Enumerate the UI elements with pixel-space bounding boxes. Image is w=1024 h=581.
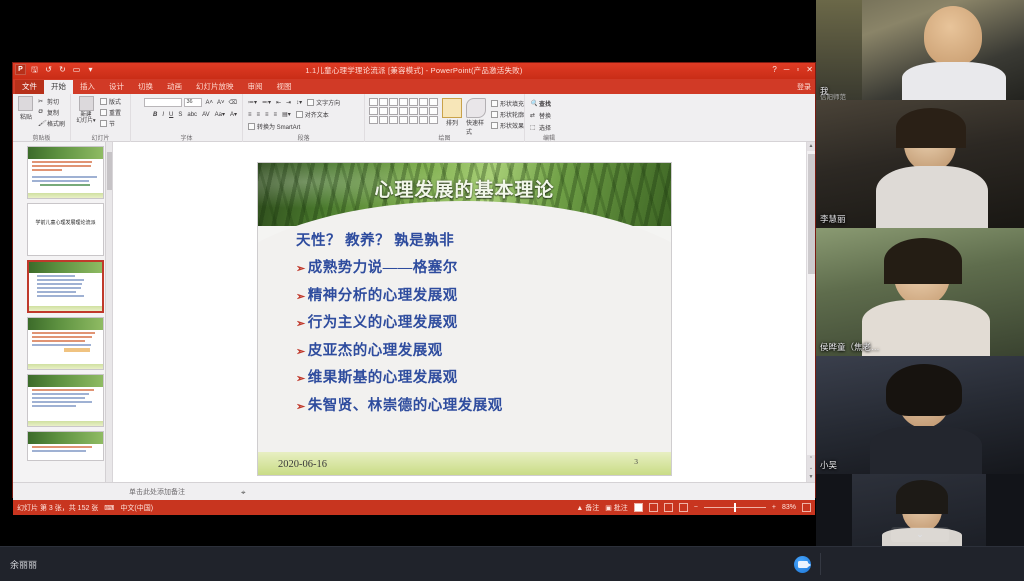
align-left-button[interactable]: ≡	[247, 112, 253, 118]
slide-sorter-icon[interactable]	[649, 503, 658, 512]
character-spacing-button[interactable]: AV	[201, 112, 211, 118]
slide-thumbnail-5[interactable]: 5 ✸	[27, 374, 104, 427]
strikethrough-button[interactable]: abc	[186, 112, 198, 118]
shape-oval-icon	[419, 98, 428, 106]
thumbnail-header-band	[28, 432, 103, 444]
layout-icon	[100, 98, 107, 105]
shadow-button[interactable]: S	[177, 112, 183, 118]
group-label-drawing: 绘图	[365, 133, 524, 142]
ribbon-group-font: 36 A˄ A˅ ⌫ B I U S abc AV Aa▾ A▾	[131, 94, 243, 142]
shape-star-icon	[369, 116, 378, 124]
shape-arc-icon	[399, 116, 408, 124]
close-icon[interactable]: ✕	[806, 64, 813, 75]
slide-bullet-5: ➢ 维果斯基的心理发展观	[296, 366, 661, 387]
paste-button[interactable]: 粘贴	[17, 96, 35, 121]
shape-arrow-icon	[399, 98, 408, 106]
bold-button[interactable]: B	[152, 112, 158, 118]
shape-effects-button[interactable]: 形状效果	[490, 121, 525, 130]
decrease-indent-button[interactable]: ⇤	[275, 99, 282, 106]
tab-slideshow[interactable]: 幻灯片放映	[189, 80, 241, 94]
brush-icon: 🖌	[38, 120, 45, 127]
collapse-video-strip-button[interactable]: ⌄	[891, 527, 949, 542]
font-name-input[interactable]	[144, 98, 182, 107]
thumbnail-line	[64, 348, 90, 352]
find-button[interactable]: 🔍查找	[529, 99, 569, 108]
participant-name: 小吴	[820, 459, 837, 471]
quick-styles-button[interactable]: 快速样式	[466, 98, 486, 136]
scroll-up-icon[interactable]: ▲	[807, 142, 815, 151]
format-painter-button[interactable]: 🖌格式刷	[37, 119, 66, 128]
shape-freeform-icon	[399, 107, 408, 115]
bullet-arrow-icon: ➢	[296, 317, 306, 330]
tab-design[interactable]: 设计	[102, 80, 131, 94]
participant-tile-5[interactable]: ⌄	[816, 474, 1024, 546]
shape-more-icon	[429, 98, 438, 106]
increase-indent-button[interactable]: ⇥	[285, 99, 292, 106]
participant-tile-1[interactable]: 我 信阳师范	[816, 0, 1024, 100]
thumbnail-line	[32, 340, 85, 342]
layout-button[interactable]: 版式	[99, 97, 122, 106]
arrange-icon	[442, 98, 462, 118]
ribbon-group-paragraph: ≔▾ ≕▾ ⇤ ⇥ ↕▾ 文字方向 ≡ ≡ ≡ ≡ ▤▾ 对齐文本	[243, 94, 365, 142]
clear-formatting-button[interactable]: ⌫	[228, 99, 238, 106]
slide-bullet-1: ➢ 成熟势力说——格塞尔	[296, 256, 661, 277]
thumbnail-header-band	[29, 262, 102, 273]
participant-tile-2[interactable]: 李慧丽	[816, 100, 1024, 228]
comments-toggle-button[interactable]: ▣ 批注	[605, 503, 628, 513]
scissors-icon: ✂	[38, 98, 45, 105]
shape-fill-icon	[491, 100, 498, 107]
video-chat-button[interactable]	[794, 556, 811, 573]
slide-bullet-6: ➢ 朱智贤、林崇德的心理发展观	[296, 394, 661, 415]
shape-box-icon	[369, 107, 378, 115]
convert-smartart-button[interactable]: 转换为 SmartArt	[247, 122, 301, 131]
copy-icon: ⧉	[38, 109, 45, 116]
bullet-arrow-icon: ➢	[296, 262, 306, 275]
notes-toggle-button[interactable]: ▲ 备注	[576, 503, 599, 513]
restore-icon[interactable]: ▫	[796, 64, 799, 75]
slide-content-body[interactable]: 天性？ 教养？ 孰是孰非 ➢ 成熟势力说——格塞尔 ➢ 精神分析的心理发展观 ➢	[296, 229, 661, 421]
underline-button[interactable]: U	[168, 112, 174, 118]
signin-label[interactable]: 登录	[797, 82, 811, 92]
thumbnail-line	[37, 295, 84, 297]
shape-scroll-icon	[429, 107, 438, 115]
shape-curve-icon	[389, 107, 398, 115]
thumbnail-line	[32, 332, 95, 334]
columns-button[interactable]: ▤▾	[281, 111, 292, 118]
select-icon: ⬚	[530, 124, 537, 131]
align-text-icon	[296, 111, 303, 118]
slide-pane-scrollbar[interactable]: ▲ ⌃ ⌄ ▼	[806, 142, 815, 482]
scroll-down-icon[interactable]: ▼	[807, 473, 815, 482]
thumbnail-header-band	[28, 375, 103, 387]
slide-title[interactable]: 心理发展的基本理论	[258, 175, 671, 202]
powerpoint-title-bar[interactable]: P 🖫 ↺ ↻ ▭ ▾ 1.1儿童心理学理论流派 [兼容模式] - PowerP…	[13, 63, 815, 79]
zoom-in-button[interactable]: +	[772, 504, 776, 511]
powerpoint-title: 1.1儿童心理学理论流派 [兼容模式] - PowerPoint(产品激活失败)	[13, 65, 815, 76]
shape-smiley-icon	[409, 107, 418, 115]
text-direction-icon	[307, 99, 314, 106]
ribbon-right-controls: 登录	[797, 82, 811, 92]
zoom-slider[interactable]	[704, 507, 766, 508]
shape-callout-icon	[389, 116, 398, 124]
bullet-arrow-icon: ➢	[296, 290, 306, 303]
tab-transitions[interactable]: 切换	[131, 80, 160, 94]
shape-rounded-icon	[379, 98, 388, 106]
shape-chevron-icon	[419, 107, 428, 115]
zoom-level[interactable]: 83%	[782, 504, 796, 511]
self-name-label: 余丽丽	[10, 558, 37, 571]
thumbnail-line	[32, 397, 85, 399]
previous-slide-icon[interactable]: ⌃	[807, 455, 815, 464]
thumbnail-scrollbar-knob[interactable]	[107, 152, 112, 190]
shape-triangle-icon	[379, 107, 388, 115]
zoom-slider-handle[interactable]	[734, 503, 736, 512]
copy-button[interactable]: ⧉复制	[37, 108, 66, 117]
ribbon-group-editing: 🔍查找 ⇄替换 ⬚选择 编辑	[525, 94, 573, 142]
thumbnail-line	[32, 161, 92, 163]
help-icon[interactable]: ?	[772, 64, 776, 75]
tab-home[interactable]: 开始	[44, 80, 73, 94]
new-slide-button[interactable]: 新建幻灯片▾	[75, 96, 97, 124]
shape-brace-left-icon	[409, 116, 418, 124]
tab-review[interactable]: 审阅	[241, 80, 270, 94]
line-spacing-button[interactable]: ↕▾	[295, 99, 303, 106]
reset-button[interactable]: 重置	[99, 108, 122, 117]
select-button[interactable]: ⬚选择	[529, 123, 569, 132]
font-size-input[interactable]: 36	[184, 98, 202, 107]
align-center-button[interactable]: ≡	[256, 112, 262, 118]
thumbnail-title: 学前儿童心理发展理论流派	[28, 204, 103, 227]
window-controls: ? ─ ▫ ✕	[772, 64, 813, 75]
group-label-paragraph: 段落	[243, 133, 364, 142]
powerpoint-status-bar: 幻灯片 第 3 张，共 152 张 ⌨ 中文(中国) ▲ 备注 ▣ 批注 − +…	[13, 500, 815, 515]
thumbnail-scrollbar[interactable]	[105, 142, 112, 482]
participant-subtitle: 信阳师范	[820, 91, 846, 100]
shape-fill-button[interactable]: 形状填充	[490, 99, 525, 108]
group-label-editing: 编辑	[525, 133, 573, 142]
find-icon: 🔍	[530, 100, 537, 107]
thumbnail-footer-band	[28, 421, 103, 426]
spellcheck-icon[interactable]: ⌨	[104, 504, 114, 512]
thumbnail-line	[32, 169, 62, 171]
slide-thumbnail-1[interactable]: 1 ✸	[27, 146, 104, 199]
tab-view[interactable]: 视图	[270, 80, 299, 94]
thumbnail-line	[32, 393, 89, 395]
participant-tile-4[interactable]: 小吴	[816, 356, 1024, 474]
slide-pane-scrollbar-knob[interactable]	[808, 154, 815, 274]
shape-outline-icon	[491, 111, 498, 118]
arrange-button[interactable]: 排列	[442, 98, 462, 127]
slide-edit-pane[interactable]: 心理发展的基本理论 天性？ 教养？ 孰是孰非 ➢ 成熟势力说——格塞尔 ➢ 精神…	[113, 142, 815, 482]
slide-bullet-text: 维果斯基的心理发展观	[308, 366, 458, 387]
reading-view-icon[interactable]	[664, 503, 673, 512]
language-label[interactable]: 中文(中国)	[120, 503, 153, 513]
change-case-button[interactable]: Aa▾	[214, 111, 226, 118]
paste-label: 粘贴	[20, 112, 32, 121]
mouse-cursor-icon: ⌖	[241, 488, 246, 498]
zoom-out-button[interactable]: −	[694, 504, 698, 511]
minimize-icon[interactable]: ─	[784, 64, 790, 75]
thumbnail-line	[37, 283, 82, 285]
shape-effects-icon	[491, 122, 498, 129]
numbering-button[interactable]: ≕▾	[261, 99, 272, 106]
smartart-icon	[248, 123, 255, 130]
powerpoint-workspace: 1 ✸ 2 学前儿童心理发展理论流派	[13, 142, 815, 482]
shape-gallery[interactable]	[369, 98, 438, 124]
slide-thumbnail-4[interactable]: 4 ✸	[27, 317, 104, 370]
thumbnail-line	[32, 450, 86, 452]
thumbnail-line	[32, 336, 92, 338]
thumbnail-line	[32, 405, 76, 407]
meeting-screen: P 🖫 ↺ ↻ ▭ ▾ 1.1儿童心理学理论流派 [兼容模式] - PowerP…	[0, 0, 1024, 581]
notes-placeholder: 单击此处添加备注	[129, 487, 185, 497]
thumbnail-footer-band	[28, 193, 103, 198]
slide-thumbnail-panel[interactable]: 1 ✸ 2 学前儿童心理发展理论流派	[13, 142, 113, 482]
shape-brace-right-icon	[419, 116, 428, 124]
bullet-arrow-icon: ➢	[296, 372, 306, 385]
ribbon-tab-strip: 文件 开始 插入 设计 切换 动画 幻灯片放映 审阅 视图 登录	[13, 79, 815, 94]
slide-bullet-text: 成熟势力说——格塞尔	[308, 256, 458, 277]
participant-tile-3[interactable]: 侯晔童（焦老…	[816, 228, 1024, 356]
thumbnail-line	[32, 165, 91, 167]
thumbnail-line	[37, 279, 84, 281]
slide-bullet-text: 朱智贤、林崇德的心理发展观	[308, 394, 503, 415]
thumbnail-line	[40, 184, 90, 186]
fit-to-window-icon[interactable]	[802, 503, 811, 512]
shared-screen-area: P 🖫 ↺ ↻ ▭ ▾ 1.1儿童心理学理论流派 [兼容模式] - PowerP…	[0, 0, 816, 546]
thumbnail-line	[32, 180, 89, 182]
participant-name: 侯晔童（焦老…	[820, 341, 880, 353]
section-button[interactable]: 节	[99, 119, 122, 128]
thumbnail-line	[32, 344, 91, 346]
ribbon-group-slides: 新建幻灯片▾ 版式 重置 节 幻灯片	[71, 94, 131, 142]
slideshow-icon[interactable]	[679, 503, 688, 512]
meeting-bottom-bar: 余丽丽	[0, 546, 1024, 581]
ribbon-group-drawing: 排列 快速样式 形状填充 形状轮廓 形状效果 绘图	[365, 94, 525, 142]
quick-styles-icon	[466, 98, 486, 118]
normal-view-icon[interactable]	[634, 503, 643, 512]
slide-bullet-text: 精神分析的心理发展观	[308, 284, 458, 305]
bullets-button[interactable]: ≔▾	[247, 99, 258, 106]
ribbon-group-clipboard: 粘贴 ✂剪切 ⧉复制 🖌格式刷 剪贴板	[13, 94, 71, 142]
shape-line-icon	[389, 98, 398, 106]
slide-lead-text: 天性？ 教养？ 孰是孰非	[296, 229, 661, 250]
current-slide[interactable]: 心理发展的基本理论 天性？ 教养？ 孰是孰非 ➢ 成熟势力说——格塞尔 ➢ 精神…	[257, 162, 672, 476]
group-label-clipboard: 剪贴板	[13, 133, 70, 142]
new-slide-icon	[79, 96, 94, 111]
text-direction-button[interactable]: 文字方向	[306, 98, 341, 107]
font-color-button[interactable]: A▾	[229, 111, 238, 118]
participant-name: 李慧丽	[820, 213, 846, 225]
powerpoint-window: P 🖫 ↺ ↻ ▭ ▾ 1.1儿童心理学理论流派 [兼容模式] - PowerP…	[12, 62, 816, 498]
align-text-button[interactable]: 对齐文本	[295, 110, 330, 119]
thumbnail-line	[32, 401, 92, 403]
align-right-button[interactable]: ≡	[264, 112, 270, 118]
thumbnail-line	[37, 287, 81, 289]
slide-thumbnail-6[interactable]: 6 ✸	[27, 431, 104, 461]
slide-bullet-2: ➢ 精神分析的心理发展观	[296, 284, 661, 305]
status-right: ▲ 备注 ▣ 批注 − + 83%	[576, 500, 811, 515]
slide-thumbnail-2[interactable]: 2 学前儿童心理发展理论流派	[27, 203, 104, 256]
paste-icon	[18, 96, 33, 111]
thumbnail-line	[32, 446, 92, 448]
slide-bullet-text: 行为主义的心理发展观	[308, 311, 458, 332]
italic-button[interactable]: I	[161, 112, 165, 118]
bottom-bar-divider	[820, 553, 821, 575]
slide-thumbnail-3[interactable]: 3 ✸	[27, 260, 104, 313]
bullet-arrow-icon: ➢	[296, 400, 306, 413]
slide-bullet-text: 皮亚杰的心理发展观	[308, 339, 443, 360]
tab-animations[interactable]: 动画	[160, 80, 189, 94]
thumbnail-line	[32, 176, 97, 178]
replace-icon: ⇄	[530, 112, 537, 119]
shape-outline-button[interactable]: 形状轮廓	[490, 110, 525, 119]
slide-date: 2020-06-16	[278, 459, 327, 470]
slide-bullet-3: ➢ 行为主义的心理发展观	[296, 311, 661, 332]
slide-number: 3	[634, 457, 638, 466]
group-label-slides: 幻灯片	[71, 133, 130, 142]
next-slide-icon[interactable]: ⌄	[807, 464, 815, 473]
thumbnail-line	[32, 389, 94, 391]
participant-video-strip: 我 信阳师范 李慧丽 侯晔童（焦老… 小吴	[816, 0, 1024, 546]
thumbnail-footer-band	[29, 306, 102, 311]
video-chat-icon	[798, 561, 808, 568]
thumbnail-footer-band	[28, 364, 103, 369]
cut-button[interactable]: ✂剪切	[37, 97, 66, 106]
slide-bullet-4: ➢ 皮亚杰的心理发展观	[296, 339, 661, 360]
status-left: 幻灯片 第 3 张，共 152 张 ⌨ 中文(中国)	[17, 503, 153, 513]
thumbnail-header-band	[28, 147, 103, 159]
shape-rect-icon	[369, 98, 378, 106]
reset-icon	[100, 109, 107, 116]
replace-button[interactable]: ⇄替换	[529, 111, 569, 120]
slide-counter: 幻灯片 第 3 张，共 152 张	[17, 503, 98, 513]
shape-square-icon	[409, 98, 418, 106]
section-icon	[100, 120, 107, 127]
ribbon: 粘贴 ✂剪切 ⧉复制 🖌格式刷 剪贴板	[13, 94, 815, 142]
bullet-arrow-icon: ➢	[296, 345, 306, 358]
tab-file[interactable]: 文件	[15, 80, 44, 94]
thumbnail-line	[37, 291, 76, 293]
increase-font-size-button[interactable]: A˄	[204, 100, 214, 106]
tab-insert[interactable]: 插入	[73, 80, 102, 94]
thumbnail-line	[37, 275, 75, 277]
decrease-font-size-button[interactable]: A˅	[216, 100, 226, 106]
group-label-font: 字体	[131, 133, 242, 142]
justify-button[interactable]: ≡	[273, 112, 279, 118]
shape-banner-icon	[379, 116, 388, 124]
thumbnail-header-band	[28, 318, 103, 330]
notes-pane[interactable]: 单击此处添加备注 ⌖	[13, 482, 815, 500]
shape-dropdown-icon	[429, 116, 438, 124]
